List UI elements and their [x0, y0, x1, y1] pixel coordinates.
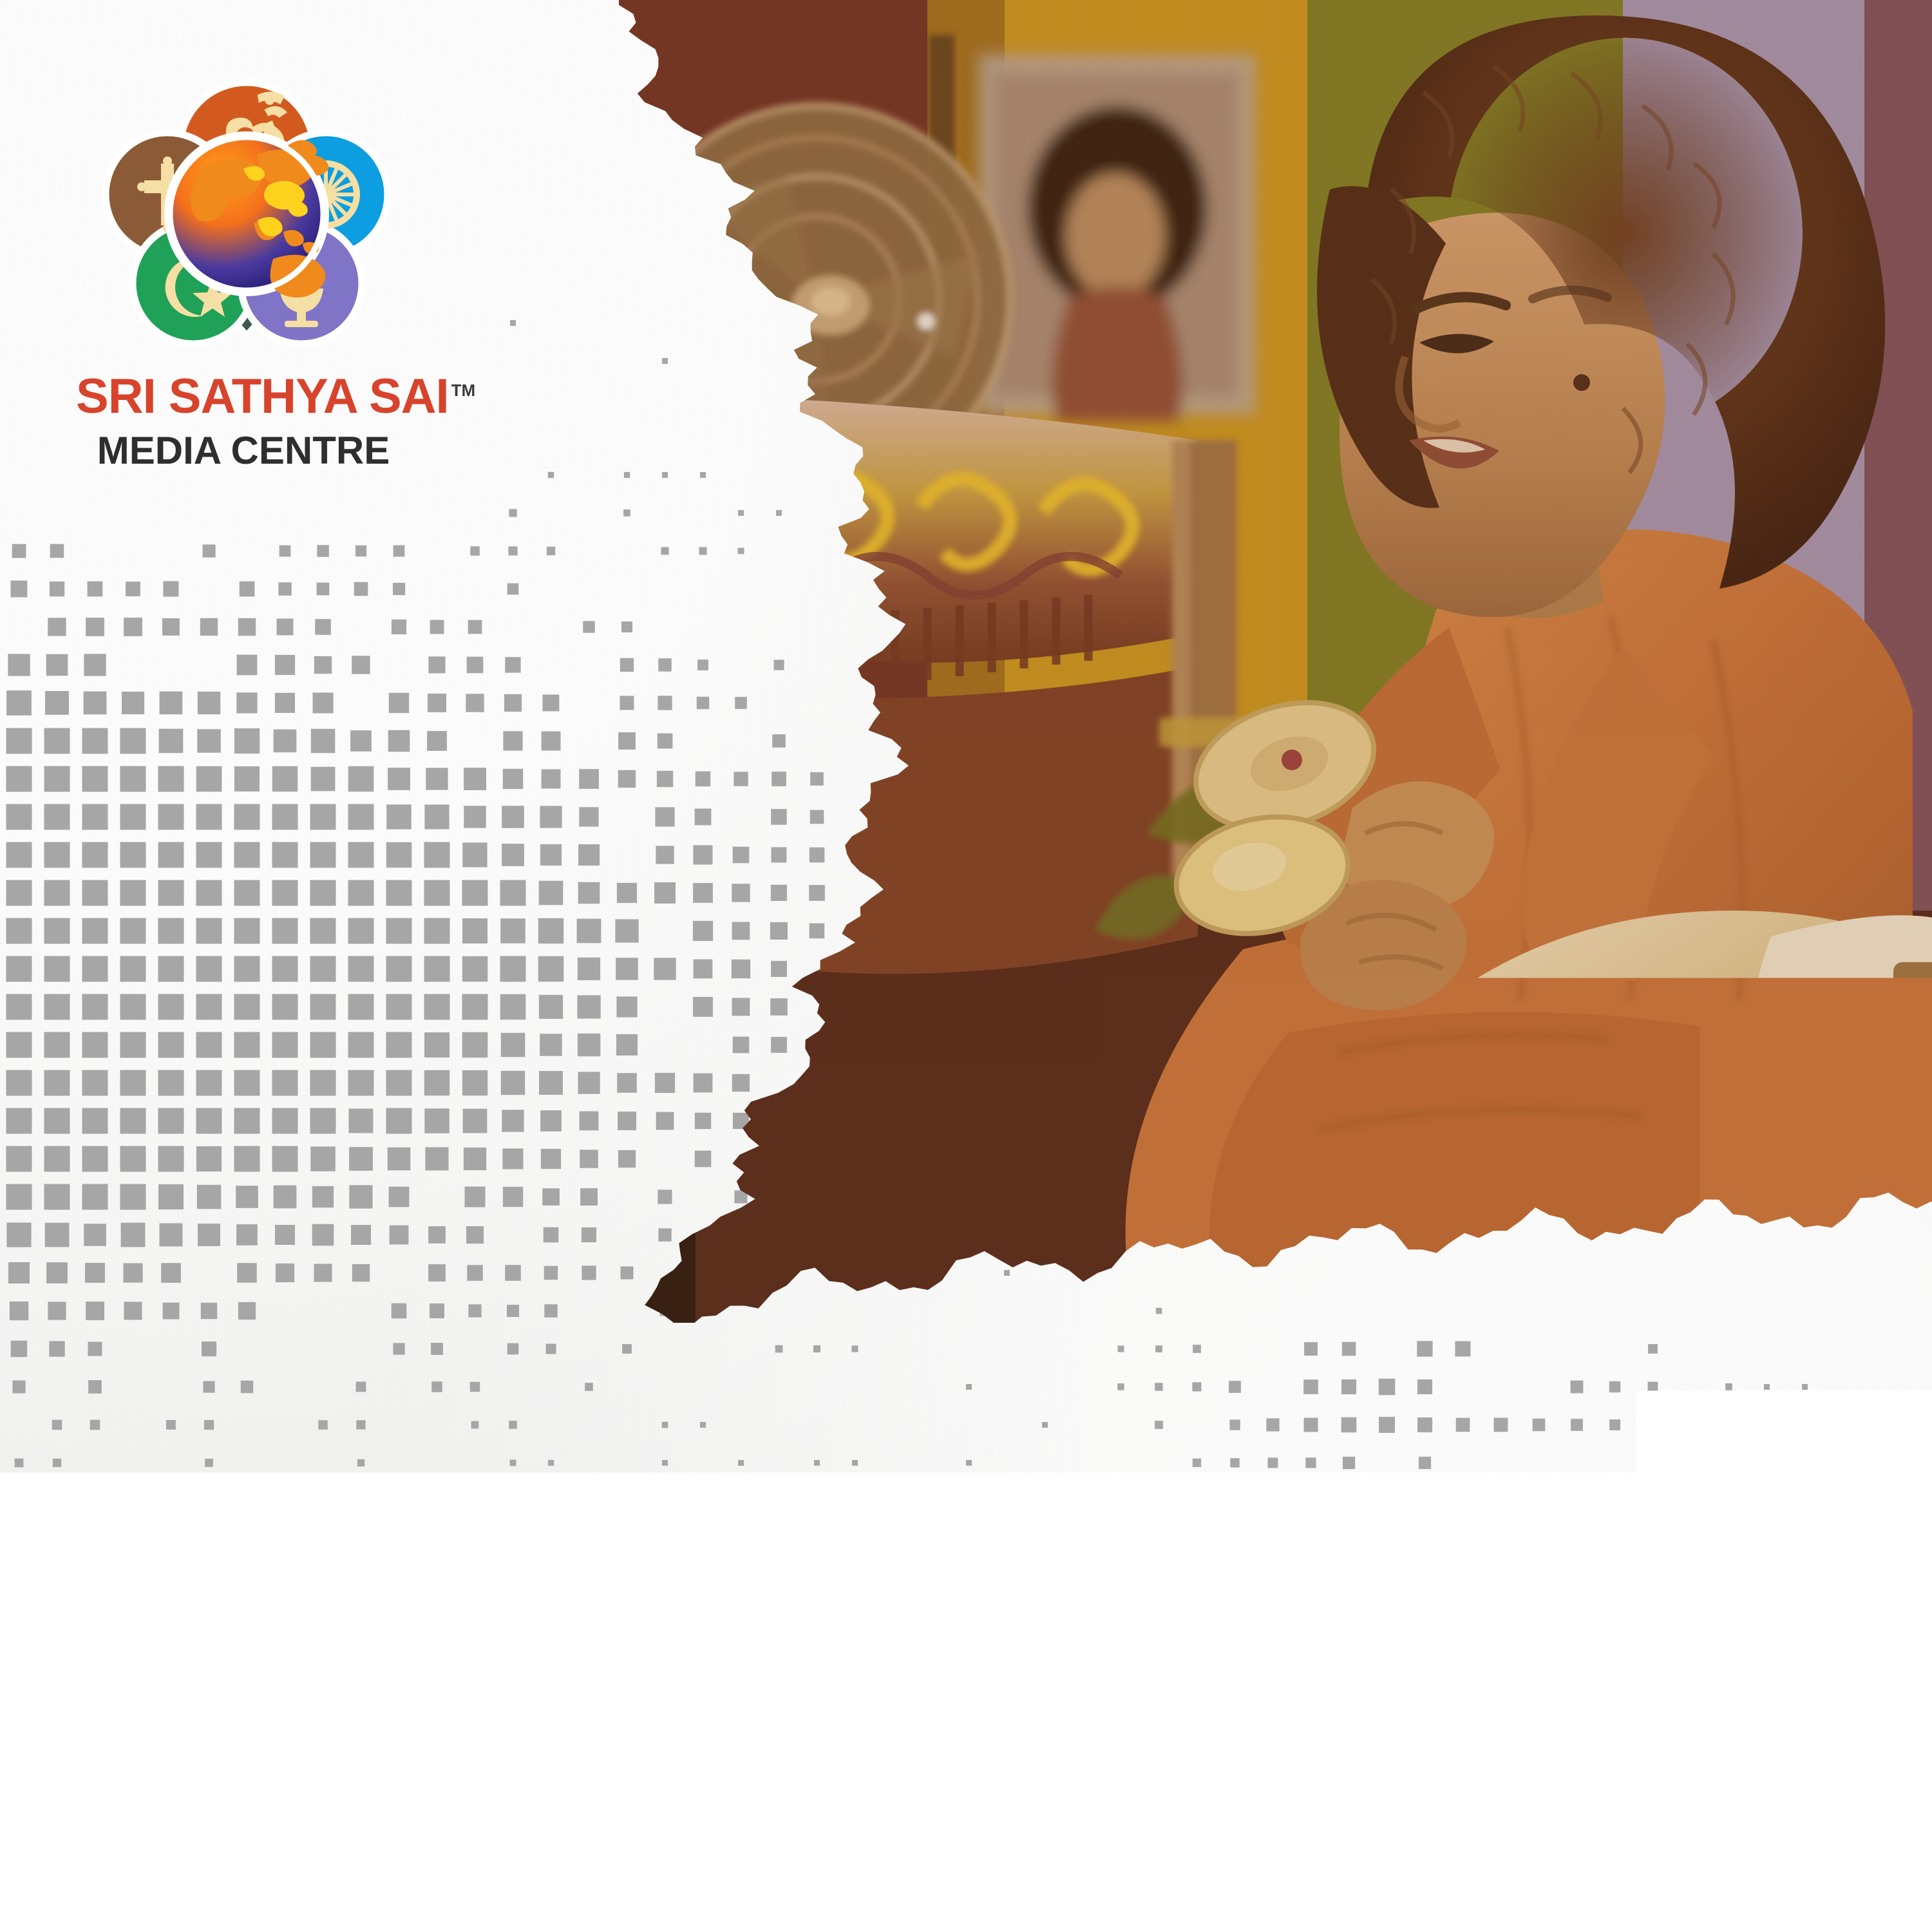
logo-line-secondary: MEDIA CENTRE	[76, 428, 411, 473]
footer-accent-bar	[0, 1835, 1932, 1932]
film-grain-overlay	[528, 0, 1932, 1323]
logo-line-primary-text: SRI SATHYA SAI	[76, 369, 449, 424]
logo-mark	[95, 71, 398, 361]
poster-canvas: SRI SATHYA SAITM MEDIA CENTRE Bhajan Tut…	[0, 0, 1932, 1932]
logo-line-primary: SRI SATHYA SAITM	[76, 368, 475, 424]
trademark-symbol: TM	[451, 381, 476, 400]
sathya-sai-baba-playing-cymbals-photo	[528, 0, 1932, 1323]
sri-sathya-sai-media-centre-logo[interactable]: SRI SATHYA SAITM MEDIA CENTRE	[76, 71, 450, 522]
logo-wordmark: SRI SATHYA SAITM MEDIA CENTRE	[76, 368, 411, 473]
globe-icon	[164, 131, 329, 298]
